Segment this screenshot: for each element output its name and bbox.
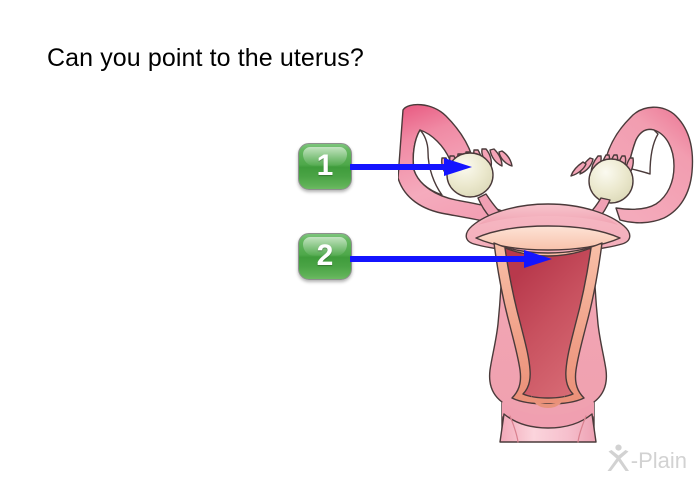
pointer-arrow-2 — [350, 248, 552, 270]
pointer-arrow-1 — [350, 156, 472, 178]
slide-canvas: Can you point to the uterus? — [0, 0, 700, 480]
uterus-body — [466, 204, 630, 438]
ovary-right — [589, 159, 633, 203]
choice-button-1-label: 1 — [299, 144, 351, 189]
brand-logo-text: -Plain — [631, 450, 687, 472]
female-reproductive-system-illustration — [398, 98, 698, 446]
choice-button-1[interactable]: 1 — [298, 143, 352, 190]
x-plain-person-icon — [606, 444, 630, 472]
brand-logo: -Plain — [606, 444, 687, 472]
choice-button-2-label: 2 — [299, 234, 351, 279]
page-title: Can you point to the uterus? — [47, 42, 364, 74]
choice-button-2[interactable]: 2 — [298, 233, 352, 280]
